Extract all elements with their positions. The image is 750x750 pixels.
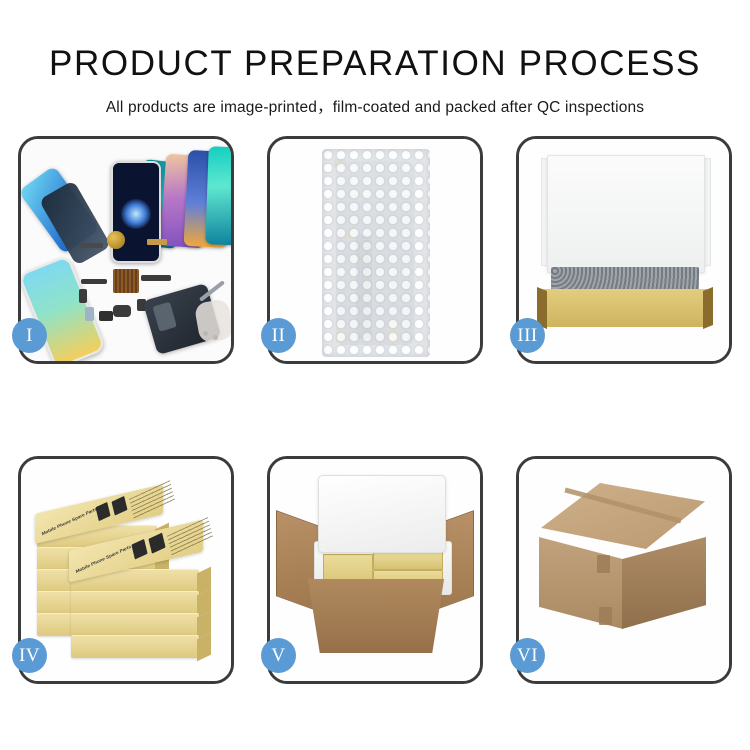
step-badge-3: III	[510, 318, 545, 353]
step-4-image: Mobile Phone Spare Parts Mobile Phone Sp…	[21, 459, 231, 681]
step-badge-5: V	[261, 638, 296, 673]
carton-right-face-icon	[622, 537, 706, 629]
camera-module-icon	[113, 305, 131, 317]
step-badge-1: I	[12, 318, 47, 353]
step-5-image	[270, 459, 480, 681]
step-2-image	[270, 139, 480, 361]
carton-tab-upper-icon	[597, 555, 610, 573]
phone-device-4-icon	[205, 146, 231, 245]
flex-cable-2-icon	[79, 289, 87, 303]
process-grid: I II	[0, 136, 750, 684]
step-badge-2: II	[261, 318, 296, 353]
process-step-6[interactable]: VI	[516, 456, 732, 684]
step-badge-6: VI	[510, 638, 545, 673]
step-badge-4: IV	[12, 638, 47, 673]
process-step-1[interactable]: I	[18, 136, 234, 364]
screw-1-icon	[203, 331, 208, 336]
process-row-1: I II	[0, 136, 750, 364]
process-step-4[interactable]: Mobile Phone Spare Parts Mobile Phone Sp…	[18, 456, 234, 684]
flex-cable-1-icon	[81, 279, 107, 284]
process-step-5[interactable]: V	[267, 456, 483, 684]
button-part-icon	[99, 311, 113, 321]
bubble-wrap-icon	[322, 149, 430, 357]
carton-tab-lower-icon	[599, 607, 612, 625]
battery-connector-icon	[79, 243, 103, 248]
logic-board-chip-icon	[113, 269, 139, 293]
product-preparation-infographic: PRODUCT PREPARATION PROCESS All products…	[0, 0, 750, 750]
carton-body-icon	[302, 579, 450, 653]
foam-cooler-lid-icon	[318, 475, 446, 553]
process-row-2: Mobile Phone Spare Parts Mobile Phone Sp…	[0, 456, 750, 684]
box-stack-icon: Mobile Phone Spare Parts Mobile Phone Sp…	[27, 473, 231, 669]
speaker-module-icon	[107, 231, 125, 249]
process-step-3[interactable]: III	[516, 136, 732, 364]
flex-cable-3-icon	[141, 275, 171, 281]
box-base-kraft-icon	[543, 289, 707, 327]
process-step-2[interactable]: II	[267, 136, 483, 364]
flex-cable-gold-icon	[147, 239, 167, 245]
sim-tray-icon	[85, 307, 94, 321]
box-label-text-2: Mobile Phone Spare Parts	[75, 544, 131, 574]
step-6-image	[519, 459, 729, 681]
wallpaper-burst-icon	[121, 199, 151, 229]
page-subtitle: All products are image-printed，film-coat…	[0, 84, 750, 117]
step-1-image	[21, 139, 231, 361]
step-3-image	[519, 139, 729, 361]
screw-2-icon	[213, 335, 218, 340]
box-lid-white-icon	[547, 155, 705, 273]
header: PRODUCT PREPARATION PROCESS All products…	[0, 0, 750, 117]
page-title: PRODUCT PREPARATION PROCESS	[0, 0, 750, 84]
